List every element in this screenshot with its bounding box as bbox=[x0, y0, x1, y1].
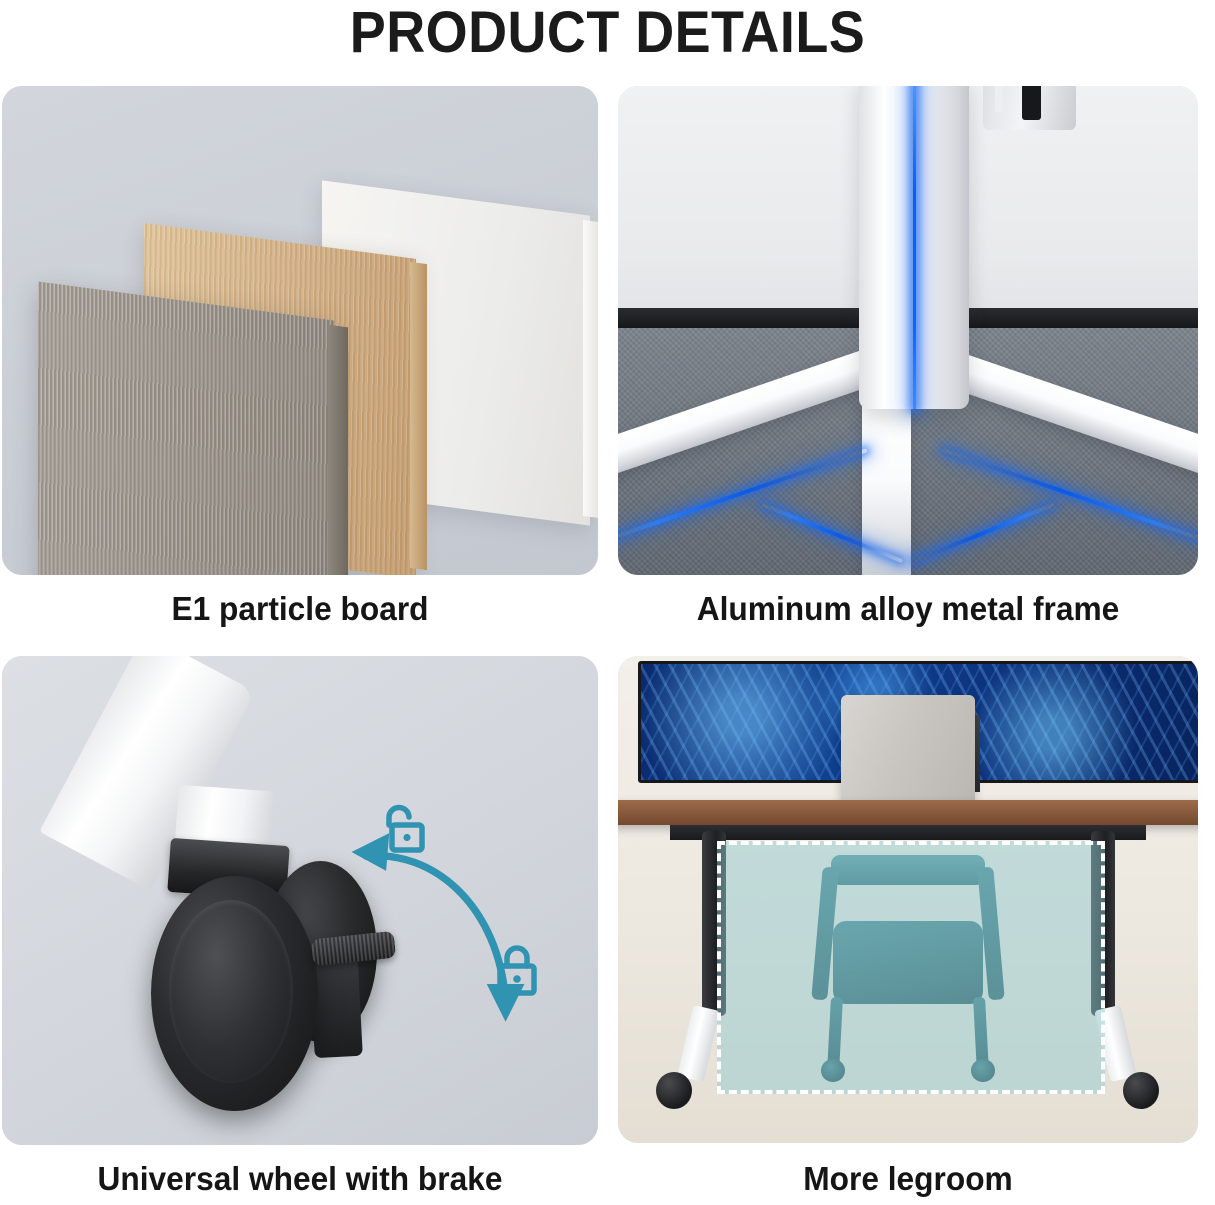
lock-icon bbox=[494, 942, 540, 998]
center-column bbox=[859, 86, 969, 409]
board-gray-edge bbox=[328, 325, 348, 575]
caption-particle-board: E1 particle board bbox=[12, 589, 588, 629]
caption-more-legroom: More legroom bbox=[630, 1159, 1187, 1199]
caption-metal-frame: Aluminum alloy metal frame bbox=[630, 589, 1187, 629]
board-gray-face bbox=[38, 282, 334, 575]
desk-caster-left bbox=[656, 1072, 692, 1109]
legroom-highlight-area bbox=[717, 841, 1106, 1094]
blue-glow-column bbox=[913, 86, 916, 409]
caption-universal-wheel: Universal wheel with brake bbox=[12, 1159, 588, 1199]
page-title: PRODUCT DETAILS bbox=[43, 2, 1173, 64]
board-white-edge bbox=[583, 220, 598, 518]
unlock-icon bbox=[380, 804, 426, 858]
product-details-page: PRODUCT DETAILS E1 particle board bbox=[0, 0, 1215, 1205]
panel-metal-frame bbox=[618, 86, 1198, 575]
desk-caster-right bbox=[1123, 1072, 1159, 1109]
panel-particle-board bbox=[2, 86, 598, 575]
wall-bracket bbox=[983, 86, 1076, 130]
panel-universal-wheel bbox=[2, 656, 598, 1145]
panel-more-legroom bbox=[618, 656, 1198, 1143]
caster-wheel-main bbox=[151, 876, 318, 1111]
curved-arrow bbox=[324, 808, 580, 1028]
board-oak-edge bbox=[410, 262, 427, 570]
desk-top bbox=[618, 800, 1198, 825]
laptop bbox=[841, 695, 974, 802]
desk-apron bbox=[670, 825, 1146, 841]
